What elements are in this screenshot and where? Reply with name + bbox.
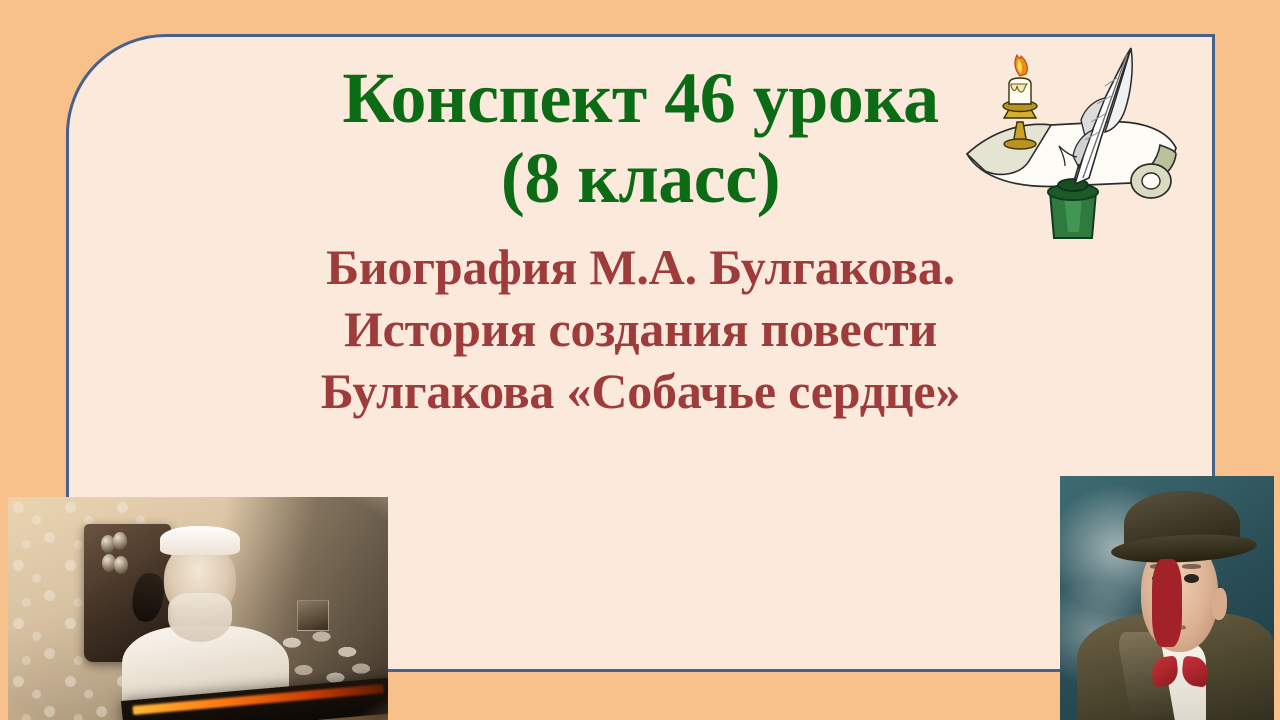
- slide-canvas: Конспект 46 урока (8 класс) Биография М.…: [0, 0, 1280, 720]
- telephone-bell: [114, 556, 128, 574]
- portrait-ear: [1212, 588, 1227, 620]
- photo-professor-preobrazhensky: [8, 497, 388, 720]
- photo-professor-beard: [168, 593, 233, 642]
- photo-mikhail-bulgakov: [1060, 476, 1274, 720]
- portrait-eyebrow: [1182, 564, 1201, 569]
- portrait-bowtie-knot: [1152, 559, 1182, 647]
- portrait-bowtie: [1152, 657, 1208, 686]
- quill-inkwell-candle-scroll-icon: [955, 26, 1190, 246]
- photo-professor-cap: [160, 526, 240, 555]
- telephone-bell: [113, 532, 127, 550]
